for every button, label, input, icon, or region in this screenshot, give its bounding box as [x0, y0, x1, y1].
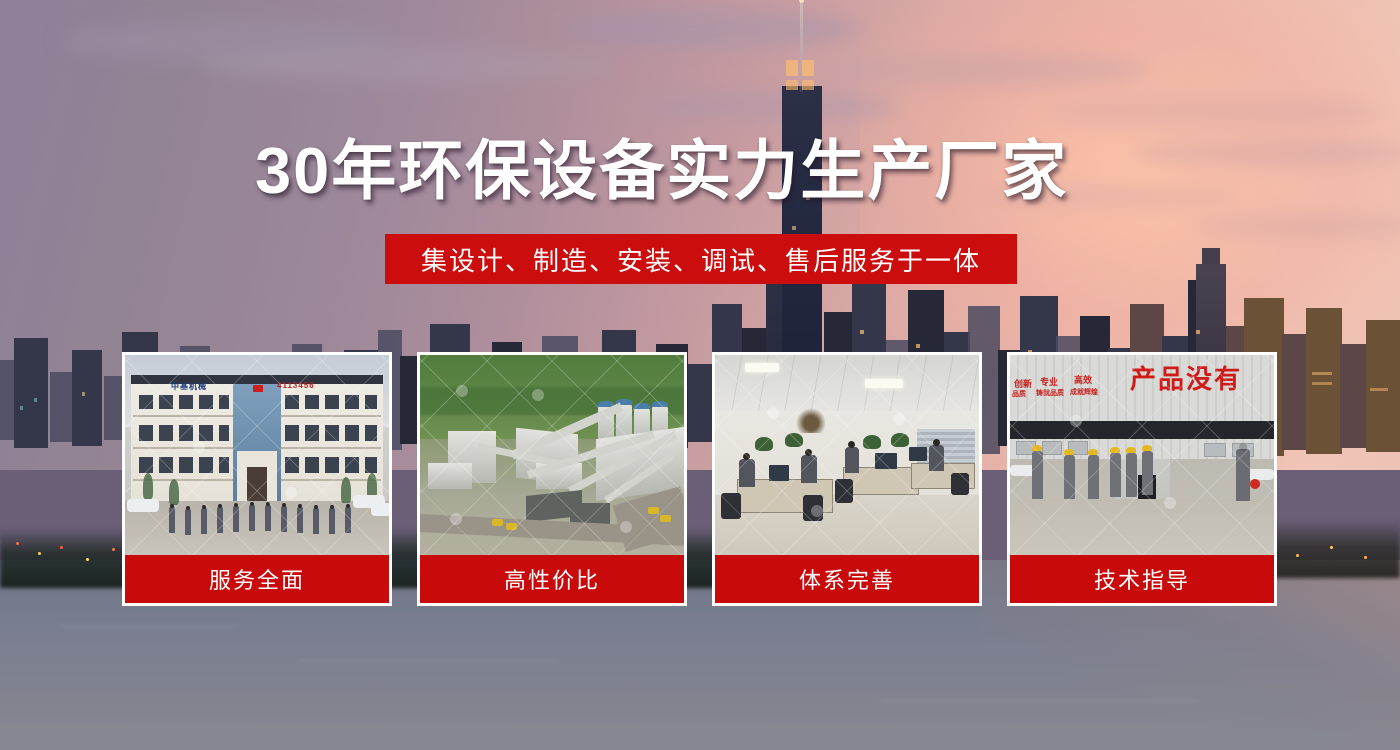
feature-card-label: 高性价比 — [420, 555, 684, 603]
feature-card-label: 体系完善 — [715, 555, 979, 603]
hero-banner: 30年环保设备实力生产厂家 集设计、制造、安装、调试、售后服务于一体 — [0, 0, 1400, 750]
hero-headline: 30年环保设备实力生产厂家 — [255, 136, 1068, 206]
feature-card-label: 服务全面 — [125, 555, 389, 603]
water-streak — [60, 625, 240, 627]
factory-sign-text: 产品没有 — [1130, 359, 1242, 396]
wall-decal — [793, 407, 829, 433]
factory-subslogan: 铸就品质 — [1036, 388, 1064, 398]
card-photo-industrial-plant — [420, 355, 684, 555]
card-photo-factory-workers: 产品没有 创新 专业 高效 品质 铸就品质 成就辉煌 — [1010, 355, 1274, 555]
building-sign-text: 中基机械 — [171, 381, 207, 392]
feature-card-label: 技术指导 — [1010, 555, 1274, 603]
hero-subtitle-bar: 集设计、制造、安装、调试、售后服务于一体 — [385, 234, 1017, 284]
building-phone-text: 4113456 — [277, 381, 315, 390]
feature-card-value[interactable]: 高性价比 — [417, 352, 687, 606]
feature-card-system[interactable]: 体系完善 — [712, 352, 982, 606]
water-streak — [880, 700, 1200, 702]
factory-subslogan: 成就辉煌 — [1070, 387, 1098, 397]
factory-slogan: 高效 — [1074, 373, 1092, 386]
card-photo-office-building: 中基机械 4113456 — [125, 355, 389, 555]
water-streak — [300, 660, 560, 662]
feature-card-guidance[interactable]: 产品没有 创新 专业 高效 品质 铸就品质 成就辉煌 — [1007, 352, 1277, 606]
card-photo-office-team — [715, 355, 979, 555]
feature-card-row: 中基机械 4113456 — [122, 352, 1278, 606]
hero-subtitle-text: 集设计、制造、安装、调试、售后服务于一体 — [421, 241, 981, 278]
factory-subslogan: 品质 — [1012, 389, 1026, 399]
feature-card-service[interactable]: 中基机械 4113456 — [122, 352, 392, 606]
factory-slogan: 专业 — [1040, 375, 1058, 388]
